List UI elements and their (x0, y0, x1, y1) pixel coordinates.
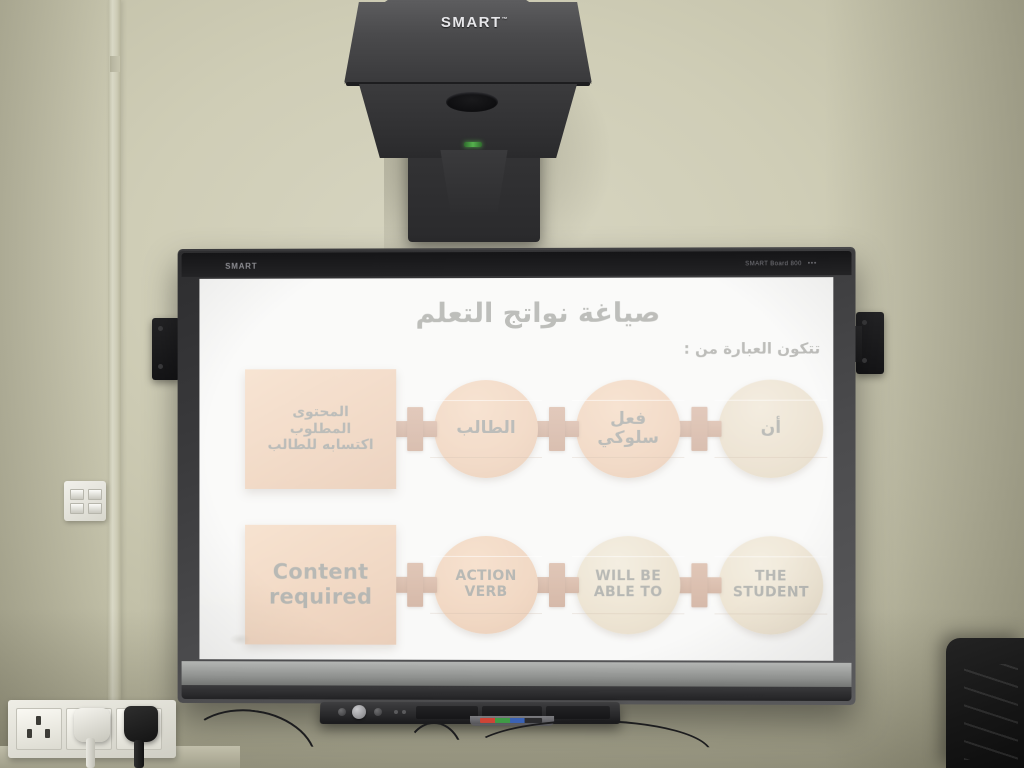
english-node-content-required-label: Content required (261, 560, 380, 610)
plus-connector-icon (393, 563, 437, 607)
arabic-node-content-label: المحتوى المطلوب اكتسابه للطالب (260, 404, 382, 454)
socket-hole-icon (27, 729, 32, 738)
projector-lens-icon (446, 92, 498, 112)
chair-back (946, 638, 1024, 768)
verb-line-2: سلوكي (597, 429, 659, 448)
able-line-1: WILL BE (594, 569, 663, 585)
verb-line-1: فعل (597, 410, 659, 429)
board-screen[interactable]: صياغة نواتج التعلم تتكون العبارة من : أن (199, 277, 833, 661)
projector-brand-label: SMART™ (330, 14, 620, 31)
english-diagram-row: THE STUDENT WILL BE ABLE TO (199, 530, 833, 641)
student-line-1: THE (733, 570, 809, 586)
light-switch-plate[interactable] (64, 481, 106, 521)
board-model-label: SMART Board 800 (745, 261, 802, 267)
projector-brand-text: SMART (441, 14, 502, 31)
arabic-node-behavioral-verb: فعل سلوكي (576, 380, 680, 478)
english-node-the-student-label: THE STUDENT (727, 570, 815, 602)
board-model-label-group: SMART Board 800 ••• (745, 261, 817, 267)
english-node-content-required: Content required (245, 525, 396, 645)
projector-status-led-icon (464, 142, 482, 147)
classroom-scene: SMART™ SMART SMART Board 800 ••• صياغة ن… (0, 0, 1024, 768)
able-line-2: ABLE TO (594, 585, 663, 601)
socket-hole-icon (36, 716, 41, 725)
socket-hole-icon (45, 729, 50, 738)
arabic-node-an: أن (719, 380, 824, 478)
wall-socket-1[interactable] (16, 708, 62, 750)
english-node-the-student: THE STUDENT (719, 536, 824, 635)
arabic-node-student: الطالب (434, 380, 538, 478)
light-switch-3[interactable] (88, 489, 102, 500)
board-indicator-dots-icon: ••• (808, 261, 817, 267)
board-brand-logo: SMART (225, 262, 257, 271)
content-line-1: المحتوى (268, 404, 374, 421)
action-line-2: VERB (455, 585, 516, 601)
slide-title: صياغة نواتج التعلم (416, 298, 661, 330)
light-switch-1[interactable] (70, 489, 84, 500)
smart-board[interactable]: SMART SMART Board 800 ••• صياغة نواتج ال… (176, 248, 854, 704)
white-plug-cord (86, 738, 95, 768)
pen-tray-power-button[interactable] (352, 705, 366, 719)
english-node-action-verb: ACTION VERB (434, 536, 538, 634)
pen-tray-color-pens-icon[interactable] (480, 718, 542, 723)
pen-tray-led-2-icon (402, 710, 406, 714)
english-node-will-be-able-to: WILL BE ABLE TO (576, 536, 680, 634)
english-node-action-verb-label: ACTION VERB (449, 569, 522, 600)
white-power-plug (74, 708, 110, 742)
plus-connector-icon (393, 407, 437, 451)
presentation-slide: صياغة نواتج التعلم تتكون العبارة من : أن (199, 277, 833, 661)
arabic-diagram-row: أن فعل سلوكي (199, 374, 833, 484)
arabic-node-content: المحتوى المطلوب اكتسابه للطالب (245, 369, 396, 489)
content-en-line-1: Content (269, 560, 372, 585)
board-top-bezel: SMART SMART Board 800 ••• (182, 251, 852, 277)
screen-smudge (229, 633, 251, 645)
content-en-line-2: required (269, 585, 372, 610)
black-power-plug (124, 706, 158, 742)
board-bottom-edge (182, 685, 852, 701)
light-switch-4[interactable] (88, 503, 102, 514)
arabic-node-behavioral-verb-label: فعل سلوكي (591, 410, 665, 448)
board-frame: SMART SMART Board 800 ••• صياغة نواتج ال… (178, 247, 856, 705)
pen-tray-button-1[interactable] (338, 708, 346, 716)
pen-tray-led-1-icon (394, 710, 398, 714)
student-line-2: STUDENT (733, 585, 809, 601)
slide-subtitle: تتكون العبارة من : (684, 339, 820, 357)
content-line-3: اكتسابه للطالب (268, 437, 374, 454)
trademark-icon: ™ (502, 17, 510, 23)
pen-tray-slot-3[interactable] (546, 706, 610, 719)
smart-projector: SMART™ (330, 0, 620, 255)
arabic-node-student-label: الطالب (450, 419, 521, 438)
black-plug-cord (134, 740, 144, 768)
pen-tray-button-2[interactable] (374, 708, 382, 716)
arabic-node-an-label: أن (755, 419, 788, 438)
action-line-1: ACTION (455, 569, 516, 585)
content-line-2: المطلوب (268, 421, 374, 438)
wall-trim-notch (110, 56, 120, 72)
english-node-will-be-able-to-label: WILL BE ABLE TO (588, 569, 669, 601)
chair-perforation-pattern (964, 664, 1018, 760)
light-switch-2[interactable] (70, 503, 84, 514)
pen-tray-slot-1[interactable] (416, 706, 478, 719)
